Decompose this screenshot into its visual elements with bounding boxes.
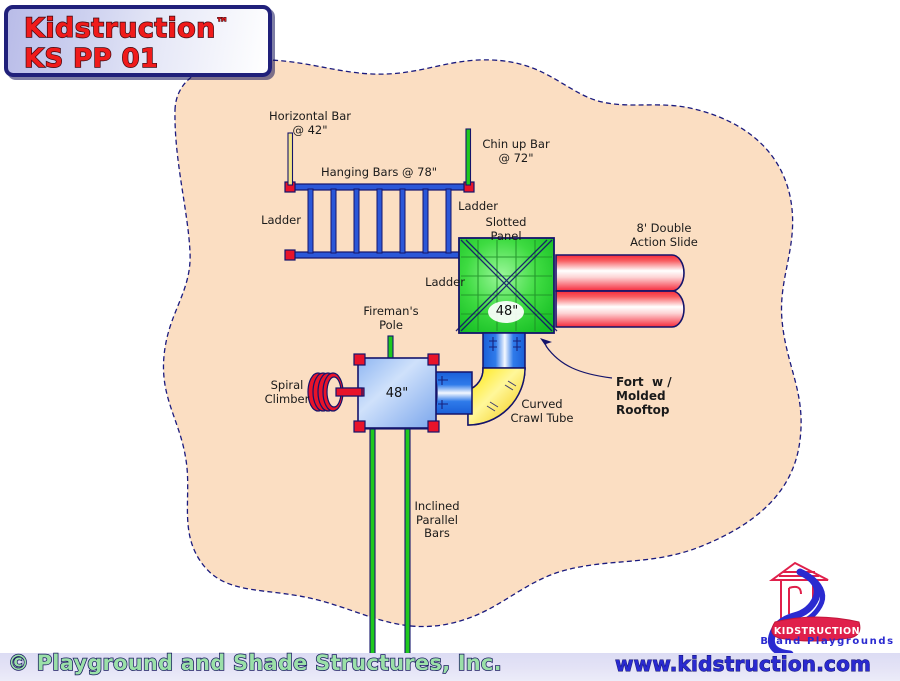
footer-copyright: © Playground and Shade Structures, Inc. — [8, 651, 502, 675]
footer-website-url[interactable]: www.kidstruction.com — [615, 652, 871, 676]
title-plate: Kidstruction™ KS PP 01 — [4, 5, 272, 77]
label-double-slide: 8' Double Action Slide — [608, 222, 720, 249]
label-hanging-bars: Hanging Bars @ 78" — [303, 166, 455, 180]
label-slotted-panel: Slotted Panel — [470, 216, 542, 243]
dim-platform-height: 48" — [378, 386, 416, 401]
trademark-symbol: ™ — [216, 16, 229, 31]
brand-title: Kidstruction™ — [24, 13, 229, 44]
horizontal-bar-post — [288, 133, 293, 185]
footer-bar: © Playground and Shade Structures, Inc. … — [0, 653, 900, 681]
label-spiral-climber: Spiral Climber — [250, 379, 324, 406]
firemans-pole — [388, 336, 393, 360]
label-horizontal-bar: Horizontal Bar @ 42" — [246, 110, 374, 137]
logo-caption: Brand Playgrounds — [760, 636, 895, 647]
label-firemans-pole: Fireman's Pole — [352, 305, 430, 332]
label-ladder-left: Ladder — [248, 214, 314, 228]
dim-fort-deck-height: 48" — [488, 304, 526, 319]
label-ladder-right: Ladder — [447, 200, 509, 214]
playground-plan-drawing: KIDSTRUCTION — [0, 0, 900, 681]
model-number: KS PP 01 — [24, 44, 158, 74]
label-chin-up-bar: Chin up Bar @ 72" — [466, 138, 566, 165]
label-fort-rooftop: Fort w / Molded Rooftop — [616, 375, 712, 417]
label-inclined-parallel-bars: Inclined Parallel Bars — [400, 500, 474, 541]
diagram-canvas: KIDSTRUCTION Kidstruction™ KS PP 01 Hori… — [0, 0, 900, 681]
label-curved-crawl-tube: Curved Crawl Tube — [500, 398, 584, 425]
double-action-slide — [556, 255, 684, 327]
label-ladder-fort: Ladder — [414, 276, 476, 290]
